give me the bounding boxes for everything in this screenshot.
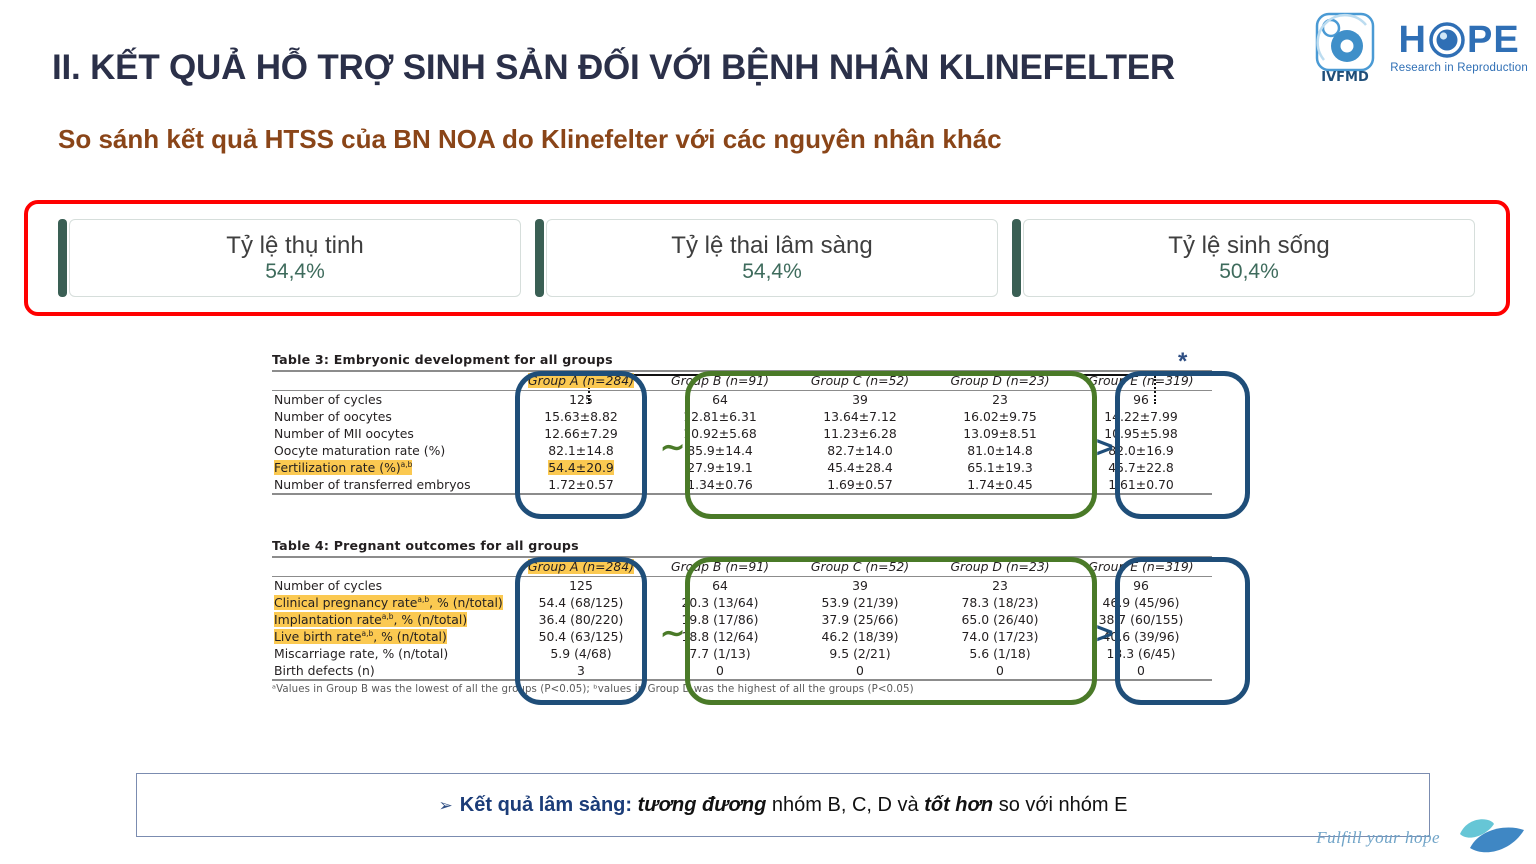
cell: 23 bbox=[930, 391, 1070, 408]
cell: 81.0±14.8 bbox=[930, 442, 1070, 459]
cell: 5.6 (1/18) bbox=[930, 645, 1070, 662]
table4-header-row: Group A (n=284) Group B (n=91) Group C (… bbox=[272, 558, 1212, 576]
conclusion-emphasis-2: tốt hơn bbox=[924, 794, 993, 816]
cell: 1.34±0.76 bbox=[650, 476, 790, 493]
cell: 10.95±5.98 bbox=[1070, 425, 1212, 442]
table-row: Number of cycles 125 64 39 23 96 bbox=[272, 391, 1212, 408]
ivfmd-logo-icon: IVFMD bbox=[1314, 12, 1376, 82]
cell: 1.74±0.45 bbox=[930, 476, 1070, 493]
hope-tagline-text: Research in Reproduction bbox=[1390, 62, 1528, 74]
cell: 50.4 (63/125) bbox=[512, 628, 650, 645]
table-row: Clinical pregnancy ratea,b, % (n/total) … bbox=[272, 594, 1212, 611]
conclusion-box: ➢Kết quả lâm sàng: tương đương nhóm B, C… bbox=[136, 773, 1430, 837]
kpi-card-fertilization[interactable]: Tỷ lệ thụ tinh 54,4% bbox=[58, 219, 521, 297]
table-row: Fertilization rate (%)a,b 54.4±20.9 27.9… bbox=[272, 459, 1212, 476]
table3-col-3: Group C (n=52) bbox=[790, 372, 930, 390]
ivfmd-label: IVFMD bbox=[1321, 70, 1369, 82]
conclusion-tail: so với nhóm E bbox=[993, 794, 1127, 816]
table-row: Number of transferred embryos 1.72±0.57 … bbox=[272, 476, 1212, 493]
table3: Group A (n=284) Group B (n=91) Group C (… bbox=[272, 372, 1212, 390]
cell: 1.69±0.57 bbox=[790, 476, 930, 493]
table4-col-4: Group D (n=23) bbox=[930, 558, 1070, 576]
cell: 65.1±19.3 bbox=[930, 459, 1070, 476]
page-title: II. KẾT QUẢ HỖ TRỢ SINH SẢN ĐỐI VỚI BỆNH… bbox=[52, 48, 1332, 88]
row-label: Fertilization rate (%)a,b bbox=[272, 459, 512, 476]
table-row: Live birth ratea,b, % (n/total) 50.4 (63… bbox=[272, 628, 1212, 645]
row-label: Implantation ratea,b, % (n/total) bbox=[272, 611, 512, 628]
row-label: Number of oocytes bbox=[272, 408, 512, 425]
cell: 5.9 (4/68) bbox=[512, 645, 650, 662]
table3-caption: Table 3: Embryonic development for all g… bbox=[272, 352, 1212, 367]
cell: 45.4±28.4 bbox=[790, 459, 930, 476]
table3-header-row: Group A (n=284) Group B (n=91) Group C (… bbox=[272, 372, 1212, 390]
table-row: Birth defects (n) 3 0 0 0 0 bbox=[272, 662, 1212, 679]
greater-than-operator-t3: > bbox=[1096, 433, 1114, 463]
row-label: Live birth ratea,b, % (n/total) bbox=[272, 628, 512, 645]
row-label: Birth defects (n) bbox=[272, 662, 512, 679]
table-row: Oocyte maturation rate (%) 82.1±14.8 85.… bbox=[272, 442, 1212, 459]
kpi-value: 50,4% bbox=[1219, 259, 1279, 284]
cell: 1.61±0.70 bbox=[1070, 476, 1212, 493]
table4-col-2: Group B (n=91) bbox=[650, 558, 790, 576]
table3-col-2: Group B (n=91) bbox=[650, 372, 790, 390]
cell: 46.2 (18/39) bbox=[790, 628, 930, 645]
table4-body: Number of cycles 125 64 39 23 96 Clinica… bbox=[272, 577, 1212, 679]
row-label: Number of MII oocytes bbox=[272, 425, 512, 442]
cell: 82.1±14.8 bbox=[512, 442, 650, 459]
table4-col-3: Group C (n=52) bbox=[790, 558, 930, 576]
cell: 37.9 (25/66) bbox=[790, 611, 930, 628]
cell: 13.09±8.51 bbox=[930, 425, 1070, 442]
kpi-accent-bar bbox=[1012, 219, 1021, 297]
cell: 53.9 (21/39) bbox=[790, 594, 930, 611]
cell: 45.7±22.8 bbox=[1070, 459, 1212, 476]
row-label: Number of transferred embryos bbox=[272, 476, 512, 493]
cell: 16.02±9.75 bbox=[930, 408, 1070, 425]
kpi-frame: Tỷ lệ thụ tinh 54,4% Tỷ lệ thai lâm sàng… bbox=[24, 200, 1510, 316]
leaf-logo-icon bbox=[1450, 818, 1528, 858]
cell: 82.0±16.9 bbox=[1070, 442, 1212, 459]
kpi-label: Tỷ lệ thụ tinh bbox=[226, 232, 363, 260]
row-label: Clinical pregnancy ratea,b, % (n/total) bbox=[272, 594, 512, 611]
footer-tagline: Fulfill your hope bbox=[1316, 828, 1440, 848]
hope-eye-icon bbox=[1428, 21, 1466, 59]
conclusion-middle: nhóm B, C, D và bbox=[766, 794, 924, 816]
table4-col-0 bbox=[272, 558, 512, 576]
cell: 125 bbox=[512, 391, 650, 408]
greater-than-operator-t4: > bbox=[1096, 619, 1114, 649]
kpi-card-clinical-pregnancy[interactable]: Tỷ lệ thai lâm sàng 54,4% bbox=[535, 219, 998, 297]
hope-wordmark-text: H PE bbox=[1399, 21, 1520, 59]
conclusion-lead: Kết quả lâm sàng: bbox=[460, 794, 632, 816]
table-row: Number of MII oocytes 12.66±7.29 10.92±5… bbox=[272, 425, 1212, 442]
kpi-label: Tỷ lệ sinh sống bbox=[1168, 232, 1329, 260]
cell: 96 bbox=[1070, 391, 1212, 408]
table4-col-5: Group E (n=319) bbox=[1070, 558, 1212, 576]
kpi-label: Tỷ lệ thai lâm sàng bbox=[671, 232, 872, 260]
page-subtitle: So sánh kết quả HTSS của BN NOA do Kline… bbox=[58, 124, 1338, 155]
kpi-value: 54,4% bbox=[742, 259, 802, 284]
conclusion-emphasis-1: tương đương bbox=[638, 794, 767, 816]
bullet-arrow-icon: ➢ bbox=[439, 796, 453, 815]
kpi-accent-bar bbox=[535, 219, 544, 297]
cell: 74.0 (17/23) bbox=[930, 628, 1070, 645]
table3-col-0 bbox=[272, 372, 512, 390]
paper-figure: * Table 3: Embryonic development for all… bbox=[272, 330, 1232, 730]
tilde-operator-t3: ∼ bbox=[660, 433, 685, 463]
cell: 38.7 (60/155) bbox=[1070, 611, 1212, 628]
table3-col-1: Group A (n=284) bbox=[512, 372, 650, 390]
row-label: Miscarriage rate, % (n/total) bbox=[272, 645, 512, 662]
table4-block: Table 4: Pregnant outcomes for all group… bbox=[272, 538, 1212, 695]
row-label: Number of cycles bbox=[272, 391, 512, 408]
cell: 82.7±14.0 bbox=[790, 442, 930, 459]
cell: 12.81±6.31 bbox=[650, 408, 790, 425]
cell: 39 bbox=[790, 391, 930, 408]
cell: 11.23±6.28 bbox=[790, 425, 930, 442]
kpi-card-live-birth[interactable]: Tỷ lệ sinh sống 50,4% bbox=[1012, 219, 1475, 297]
cell: 0 bbox=[650, 662, 790, 679]
table4-caption: Table 4: Pregnant outcomes for all group… bbox=[272, 538, 1212, 553]
cell: 64 bbox=[650, 577, 790, 594]
hope-logo: H PE Research in Reproduction bbox=[1390, 21, 1528, 74]
table4-col-1: Group A (n=284) bbox=[512, 558, 650, 576]
table4-footnote: ᵃValues in Group B was the lowest of all… bbox=[272, 684, 1212, 695]
row-label: Number of cycles bbox=[272, 577, 512, 594]
cell: 0 bbox=[930, 662, 1070, 679]
logo-group: IVFMD H PE Research in Reproduction bbox=[1314, 12, 1528, 82]
table3-col-4: Group D (n=23) bbox=[930, 372, 1070, 390]
cell: 12.66±7.29 bbox=[512, 425, 650, 442]
cell: 46.9 (45/96) bbox=[1070, 594, 1212, 611]
cell: 54.4±20.9 bbox=[512, 459, 650, 476]
cell: 65.0 (26/40) bbox=[930, 611, 1070, 628]
footer-brand: Fulfill your hope bbox=[1316, 818, 1528, 858]
cell: 36.4 (80/220) bbox=[512, 611, 650, 628]
row-label: Oocyte maturation rate (%) bbox=[272, 442, 512, 459]
table3-col-5: Group E (n=319) bbox=[1070, 372, 1212, 390]
cell: 0 bbox=[790, 662, 930, 679]
kpi-accent-bar bbox=[58, 219, 67, 297]
cell: 96 bbox=[1070, 577, 1212, 594]
cell: 1.72±0.57 bbox=[512, 476, 650, 493]
table-row: Implantation ratea,b, % (n/total) 36.4 (… bbox=[272, 611, 1212, 628]
table4: Group A (n=284) Group B (n=91) Group C (… bbox=[272, 558, 1212, 576]
cell: 78.3 (18/23) bbox=[930, 594, 1070, 611]
table3-block: Table 3: Embryonic development for all g… bbox=[272, 352, 1212, 495]
table-row: Number of cycles 125 64 39 23 96 bbox=[272, 577, 1212, 594]
cell: 54.4 (68/125) bbox=[512, 594, 650, 611]
cell: 40.6 (39/96) bbox=[1070, 628, 1212, 645]
cell: 13.64±7.12 bbox=[790, 408, 930, 425]
cell: 64 bbox=[650, 391, 790, 408]
cell: 125 bbox=[512, 577, 650, 594]
table3-body: Number of cycles 125 64 39 23 96 Number … bbox=[272, 391, 1212, 493]
cell: 0 bbox=[1070, 662, 1212, 679]
conclusion-text: ➢Kết quả lâm sàng: tương đương nhóm B, C… bbox=[439, 794, 1128, 817]
cell: 3 bbox=[512, 662, 650, 679]
table-row: Number of oocytes 15.63±8.82 12.81±6.31 … bbox=[272, 408, 1212, 425]
tilde-operator-t4: ∼ bbox=[660, 619, 685, 649]
cell: 20.3 (13/64) bbox=[650, 594, 790, 611]
cell: 13.3 (6/45) bbox=[1070, 645, 1212, 662]
cell: 14.22±7.99 bbox=[1070, 408, 1212, 425]
cell: 9.5 (2/21) bbox=[790, 645, 930, 662]
cell: 23 bbox=[930, 577, 1070, 594]
kpi-value: 54,4% bbox=[265, 259, 325, 284]
cell: 15.63±8.82 bbox=[512, 408, 650, 425]
cell: 39 bbox=[790, 577, 930, 594]
table-row: Miscarriage rate, % (n/total) 5.9 (4/68)… bbox=[272, 645, 1212, 662]
